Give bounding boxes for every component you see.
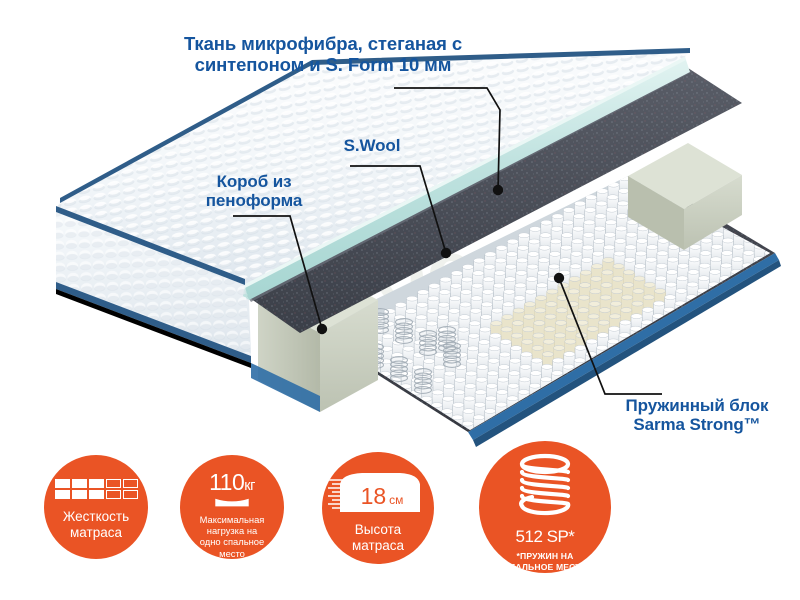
watermark: Мебель [255,223,582,319]
callout-fabric: Ткань микрофибра, стеганая с синтепоном … [126,33,520,75]
foam-box-front-face [320,300,378,412]
leader-swool [350,166,446,253]
leader-dots [317,185,564,334]
badge-firmness: Жесткость матраса [44,455,148,559]
badge-load-unit: кг [244,478,255,494]
badge-height-caption: Высота матраса [352,522,404,553]
infographic-canvas: Мебель [0,0,800,600]
foam-box-right-face [684,175,742,250]
leader-foambox [233,216,322,329]
badge-max-load: 110кг Максимальная нагрузка на одно спал… [180,455,284,559]
side-quilt-panel [56,212,251,356]
leader-springblock [559,278,662,394]
badge-load-number: 110 [209,469,244,495]
badge-firmness-caption: Жесткость матраса [63,509,129,540]
callout-spring-block: Пружинный блок Sarma Strong™ [594,396,800,435]
callout-foam-box: Короб из пеноформа [180,172,328,211]
badge-springs-value: 512 SP* [516,527,575,547]
base-felt-layer [320,175,775,432]
foam-box-right-top [628,143,742,209]
badge-springs-caption: *ПРУЖИН НА СПАЛЬНОЕ МЕСТО [503,551,588,572]
ruler-icon: 18см [322,468,434,514]
coil-spring-icon [502,450,588,522]
badge-height: 18см Высота матраса [322,452,434,564]
top-quilt-panel [56,50,690,284]
foam-box-top [258,267,378,333]
mattress-load-icon [180,498,284,508]
svg-text:Мебель: Мебель [255,223,582,319]
foam-box-left-face [258,300,320,412]
firmness-grid-icon [55,479,138,499]
callout-swool: S.Wool [302,136,442,155]
side-bottom-piping [56,282,251,363]
badge-load-value: 110кг [209,469,255,496]
badge-load-caption: Максимальная нагрузка на одно спальное м… [200,514,265,559]
badge-springs: 512 SP* *ПРУЖИН НА СПАЛЬНОЕ МЕСТО [479,441,611,573]
